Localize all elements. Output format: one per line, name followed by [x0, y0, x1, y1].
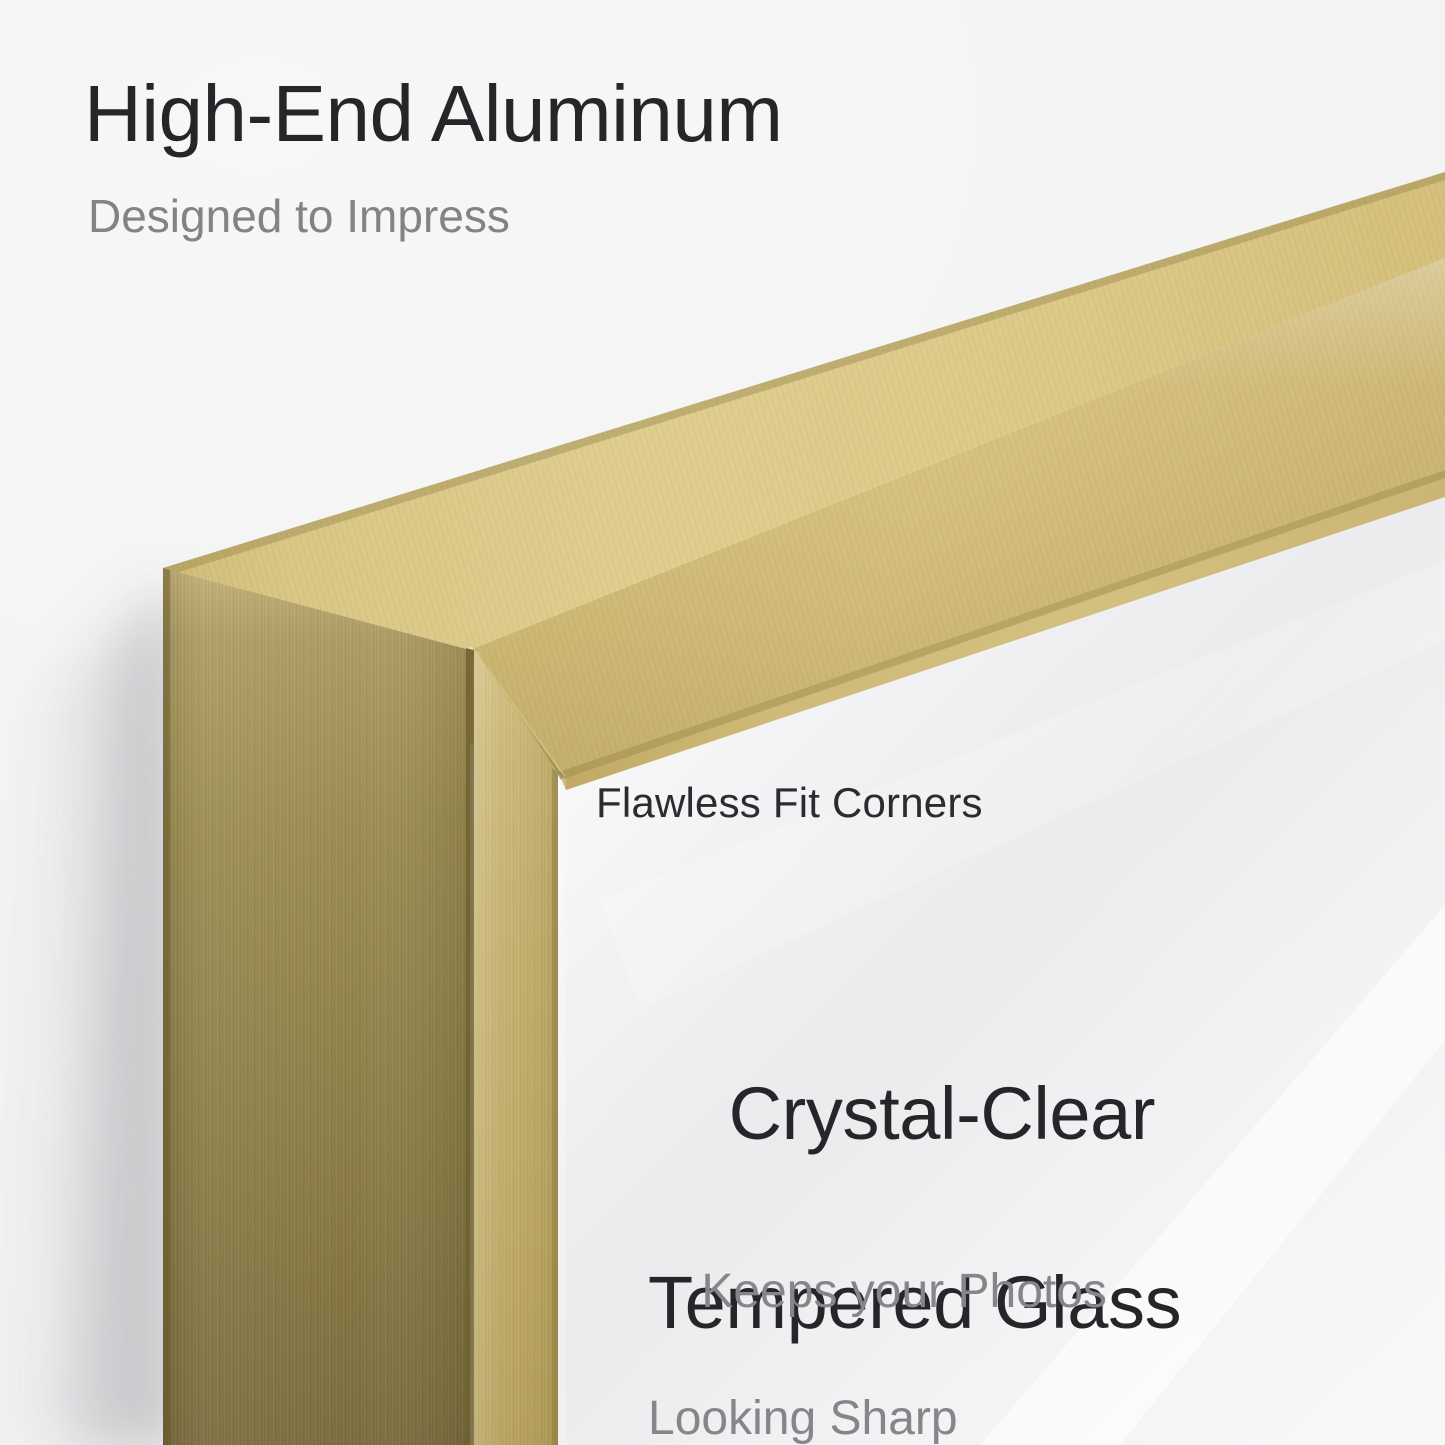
callout-corner-label: Flawless Fit Corners: [596, 782, 983, 824]
page-title: High-End Aluminum: [84, 74, 783, 154]
callout-glass-subtitle-line2: Looking Sharp: [648, 1387, 1107, 1445]
product-feature-image: High-End Aluminum Designed to Impress Fl…: [0, 0, 1445, 1445]
callout-glass-subtitle: Keeps your Photos Looking Sharp: [648, 1196, 1107, 1445]
frame-drop-shadow: [0, 585, 175, 1445]
callout-glass-title-line1: Crystal-Clear: [729, 1072, 1156, 1155]
callout-glass-subtitle-line1: Keeps your Photos: [701, 1265, 1107, 1318]
page-subtitle: Designed to Impress: [88, 193, 510, 239]
